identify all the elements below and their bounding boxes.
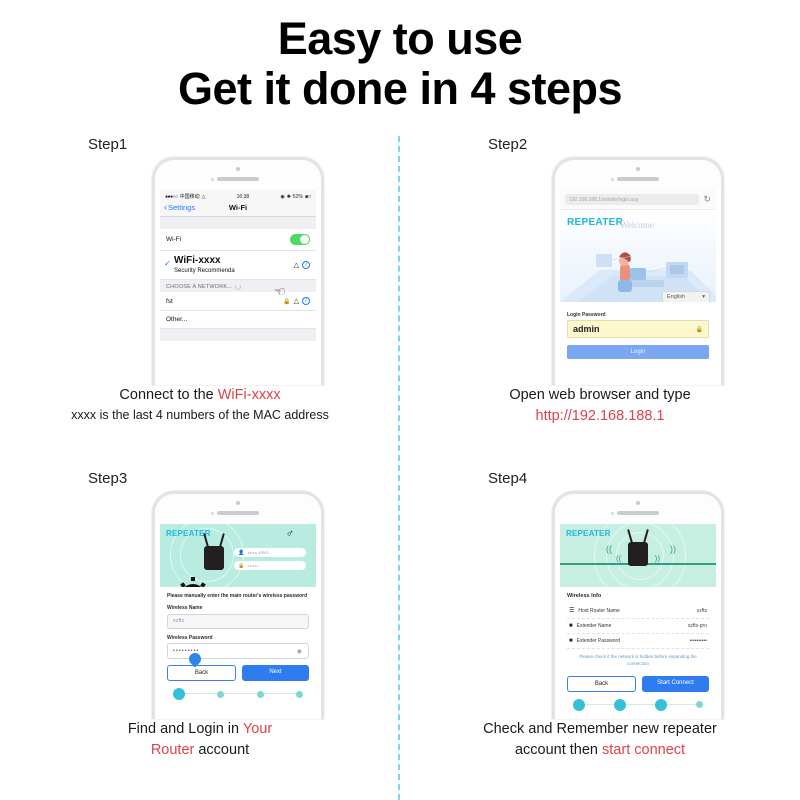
choose-network-label: CHOOSE A NETWORK... [166,284,232,290]
info-icon[interactable]: i [302,261,310,269]
router-icon: ☰ [569,607,574,614]
caption-1-text-a: Connect to the [119,387,217,403]
phone-mockup-2: 192.168.188.1/mobile/login.asp ↻ REPEATE… [400,157,800,379]
hero-password-value: •••••• [248,563,259,568]
heading-line-2: Get it done in 4 steps [0,64,800,114]
language-select[interactable]: English ▾ [662,291,710,302]
router-icon [628,542,648,566]
ios-status-bar: ●●●○○ 中国移动 △ 16:38 ◉ ✺ 52% ■□ [160,190,316,201]
caption-1-text-b: WiFi-xxxx [218,387,281,403]
progress-dot [696,701,703,708]
speaker-grill [217,177,259,181]
sensor-icon [611,512,614,515]
caption-4-text-b: start connect [602,742,685,758]
password-label: Login Password [567,312,709,318]
list-gap [160,217,316,229]
next-button[interactable]: Next [242,665,309,681]
progress-dots-3 [167,688,309,700]
selected-network-ssid: WiFi-xxxx [174,255,221,266]
extender-icon: ■ [569,638,573,644]
caption-1-line-2: xxxx is the last 4 numbers of the MAC ad… [0,406,400,424]
speaker-grill [617,177,659,181]
wifi-icon: △ [202,194,206,200]
camera-icon [636,501,640,505]
step3-form: Please manually enter the main router's … [160,587,316,700]
signal-wave-left-outer-icon: (( [606,544,612,554]
brand-logo: REPEATER [567,217,623,228]
choose-network-header: CHOOSE A NETWORK... [160,280,316,292]
phone-earpiece-area-3 [155,494,321,524]
caption-2-line-1: Open web browser and type [400,385,800,406]
info-label: Extender Name [577,623,612,629]
brand-logo: REPEATER [566,529,611,538]
progress-dot [217,691,224,698]
alarm-icon: ◉ [280,194,284,200]
step4-info: Wireless Info ☰ Host Router Name szfts ■ [560,587,716,711]
welcome-label: Welcome [620,220,654,230]
hero-username-field: 👤 xxxx-PRO [234,548,306,557]
wireless-name-label: Wireless Name [167,605,309,611]
phone-mockup-1: ●●●○○ 中国移动 △ 16:38 ◉ ✺ 52% ■□ [0,157,400,379]
phone-screen-2: 192.168.188.1/mobile/login.asp ↻ REPEATE… [560,190,716,385]
step-panel-3: Step3 REPEATER ♂ [0,470,400,761]
camera-icon [236,501,240,505]
info-value: szfts-pro [688,623,707,629]
eye-icon[interactable]: ◉ [297,648,303,655]
wireless-name-value: szfts [173,618,184,624]
network-row-icons: 🔒 △ i [283,297,310,305]
rotation-lock-icon: ✺ [287,194,291,200]
language-value: English [667,294,685,300]
browser-url-bar[interactable]: 192.168.188.1/mobile/login.asp ↻ [560,190,716,210]
phone-earpiece-area-1 [155,160,321,190]
ios-nav-bar: ‹ Settings Wi-Fi [160,201,316,217]
caption-3-text-c: Router [151,742,195,758]
login-button[interactable]: Login [567,345,709,359]
caption-3-text-d: account [194,742,249,758]
phone-screen-3: REPEATER ♂ 👤 xxxx-PRO [160,524,316,719]
wifi-toggle-row[interactable]: Wi-Fi [160,229,316,251]
poster-root: Easy to use Get it done in 4 steps Step1… [0,0,800,800]
lock-icon: 🔒 [238,563,245,569]
phone-mockup-3: REPEATER ♂ 👤 xxxx-PRO [0,491,400,713]
step-panel-2: Step2 192.168.188.1/mobile/login.asp ↻ R… [400,136,800,427]
step-panel-1: Step1 ●●●○○ 中国移动 △ 16:38 [0,136,400,424]
caption-4-text-a: account then [515,742,602,758]
phone-screen-4: REPEATER (( (( )) )) [560,524,716,719]
info-row-host-router: ☰ Host Router Name szfts [567,603,709,619]
hero-username-value: xxxx-PRO [248,550,269,555]
phone-earpiece-area-2 [555,160,721,190]
page-title: Easy to use Get it done in 4 steps [0,14,800,115]
step-panel-4: Step4 REPEATER [400,470,800,761]
camera-icon [636,167,640,171]
selected-network-icons: △ i [294,256,310,269]
phone-earpiece-area-4 [555,494,721,524]
info-row-extender-name: ■ Extender Name szfts-pro [567,619,709,634]
reload-icon[interactable]: ↻ [703,194,711,205]
signal-wave-left-inner-icon: (( [616,554,621,563]
password-input[interactable]: admin 🔒 [567,320,709,338]
info-icon[interactable]: i [302,297,310,305]
caption-2-line-2: http://192.168.188.1 [400,406,800,427]
progress-dot [257,691,264,698]
step-label-3: Step3 [88,470,400,487]
sensor-icon [611,178,614,181]
wireless-password-label: Wireless Password [167,635,309,641]
lock-icon: 🔒 [696,326,703,333]
sensor-icon [211,512,214,515]
progress-dot [573,699,585,711]
chevron-down-icon: ▾ [702,294,705,300]
step-caption-1: Connect to the WiFi-xxxx xxxx is the las… [0,385,400,424]
repeater-hero-banner-2: REPEATER Welcome [560,210,716,302]
speaker-grill [617,511,659,515]
extender-icon: ■ [569,623,573,629]
wireless-name-input[interactable]: szfts [167,614,309,629]
selected-network-row[interactable]: ✓ WiFi-xxxx Security Recommenda △ i ☜ [160,251,316,280]
signal-wave-right-outer-icon: )) [670,544,676,554]
phone-screen-1: ●●●○○ 中国移动 △ 16:38 ◉ ✺ 52% ■□ [160,190,316,385]
other-network-label: Other... [166,316,187,323]
back-button[interactable]: Back [167,665,236,681]
battery-icon: ■□ [305,194,311,200]
url-input[interactable]: 192.168.188.1/mobile/login.asp [565,194,699,205]
step-label-4: Step4 [488,470,800,487]
step4-button-row: Back Start Connect [567,676,709,692]
info-label: Host Router Name [578,608,619,614]
wifi-toggle-label: Wi-Fi [166,236,181,243]
step3-button-row: Back Next [167,665,309,681]
start-connect-button[interactable]: Start Connect [642,676,709,692]
wifi-signal-icon: △ [294,261,299,269]
progress-dot [614,699,626,711]
loading-spinner-icon [235,284,241,290]
progress-dot [296,691,303,698]
speaker-grill [217,511,259,515]
heading-line-1: Easy to use [0,14,800,64]
back-button[interactable]: Back [567,676,636,692]
progress-dot [173,688,185,700]
pointing-hand-icon: ☜ [273,283,287,300]
phone-mockup-4: REPEATER (( (( )) )) [400,491,800,713]
checkmark-icon: ✓ [164,259,171,268]
info-row-extender-password: ■ Extender Password •••••••••• [567,634,709,649]
instruction-note: Please manually enter the main router's … [167,593,309,600]
repeater-hero-banner-4: REPEATER (( (( )) )) [560,524,716,587]
info-label: Extender Password [577,638,620,644]
caption-4-line-1: Check and Remember new repeater [400,719,800,740]
step-caption-4: Check and Remember new repeater account … [400,719,800,761]
step-caption-2: Open web browser and type http://192.168… [400,385,800,427]
info-value: szfts [697,608,707,614]
hidden-network-hint: Please check if the network is hidden be… [567,649,709,672]
caption-3-text-a: Find and Login in [128,721,243,737]
repeater-hero-banner-3: REPEATER ♂ 👤 xxxx-PRO [160,524,316,587]
nav-title: Wi-Fi [160,203,316,212]
wifi-signal-icon: △ [294,297,299,305]
step-label-1: Step1 [88,136,400,153]
selected-network-sub: Security Recommenda [174,268,235,274]
hero-password-field: 🔒 •••••• [234,561,306,570]
user-icon: 👤 [238,550,245,556]
network-row-fst[interactable]: fst 🔒 △ i [160,292,316,311]
progress-dots-4 [567,699,709,711]
info-value: •••••••••• [689,638,707,644]
battery-percent-label: 52% [293,194,303,200]
login-form: Login Password admin 🔒 Login [560,302,716,365]
password-value: admin [573,324,600,334]
step-caption-3: Find and Login in Your Router account [0,719,400,761]
wifi-toggle-switch[interactable] [290,234,310,245]
sensor-icon [211,178,214,181]
network-ssid-label: fst [166,298,173,305]
router-icon [204,546,224,570]
caption-3-text-b: Your [243,721,272,737]
signal-dots-icon: ●●●○○ [165,194,178,200]
list-gap-bottom [160,329,316,341]
progress-dot [655,699,667,711]
wireless-info-title: Wireless Info [567,593,709,599]
step-label-2: Step2 [488,136,800,153]
carrier-label: 中国移动 [180,193,200,200]
gear-arc-icon [178,575,208,587]
camera-icon [236,167,240,171]
signal-wave-right-inner-icon: )) [655,554,660,563]
gear-icon: ♂ [286,528,294,540]
clock-label: 16:38 [237,194,250,200]
network-row-other[interactable]: Other... [160,311,316,329]
